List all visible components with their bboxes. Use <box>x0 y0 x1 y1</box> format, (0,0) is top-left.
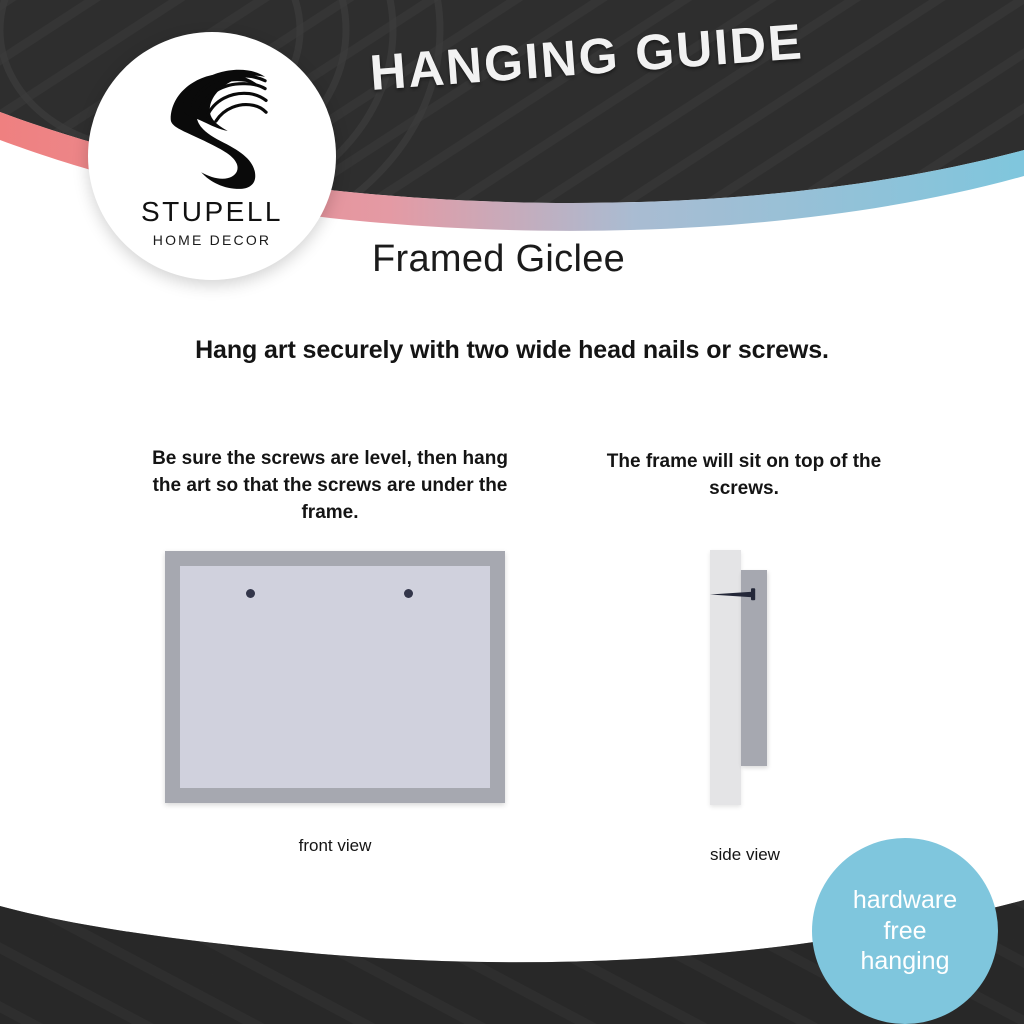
front-view-diagram <box>165 551 505 803</box>
nail-icon <box>708 586 766 602</box>
badge-line-3: hanging <box>861 946 950 977</box>
brand-tagline: HOME DECOR <box>153 232 271 248</box>
page-title: HANGING GUIDE <box>368 6 891 102</box>
product-type-heading: Framed Giclee <box>372 238 625 281</box>
caption-front-view: front view <box>165 836 505 856</box>
side-view-diagram <box>700 548 790 806</box>
frame-mat <box>180 566 490 788</box>
brand-name: STUPELL <box>141 196 283 228</box>
lead-instruction: Hang art securely with two wide head nai… <box>0 336 1024 365</box>
caption-side-view: side view <box>660 845 830 865</box>
stupell-swoosh-icon <box>153 62 271 190</box>
badge-line-2: free <box>883 916 926 947</box>
screw-dot-right-icon <box>404 589 413 598</box>
instruction-front-view: Be sure the screws are level, then hang … <box>150 446 510 527</box>
badge-line-1: hardware <box>853 885 957 916</box>
hardware-free-hanging-badge: hardware free hanging <box>812 838 998 1024</box>
brand-logo-badge: STUPELL HOME DECOR <box>88 32 336 280</box>
instruction-side-view: The frame will sit on top of the screws. <box>570 449 918 503</box>
screw-dot-left-icon <box>246 589 255 598</box>
hanging-guide-page: HANGING GUIDE STUPELL HOME DECOR Framed … <box>0 0 1024 1024</box>
